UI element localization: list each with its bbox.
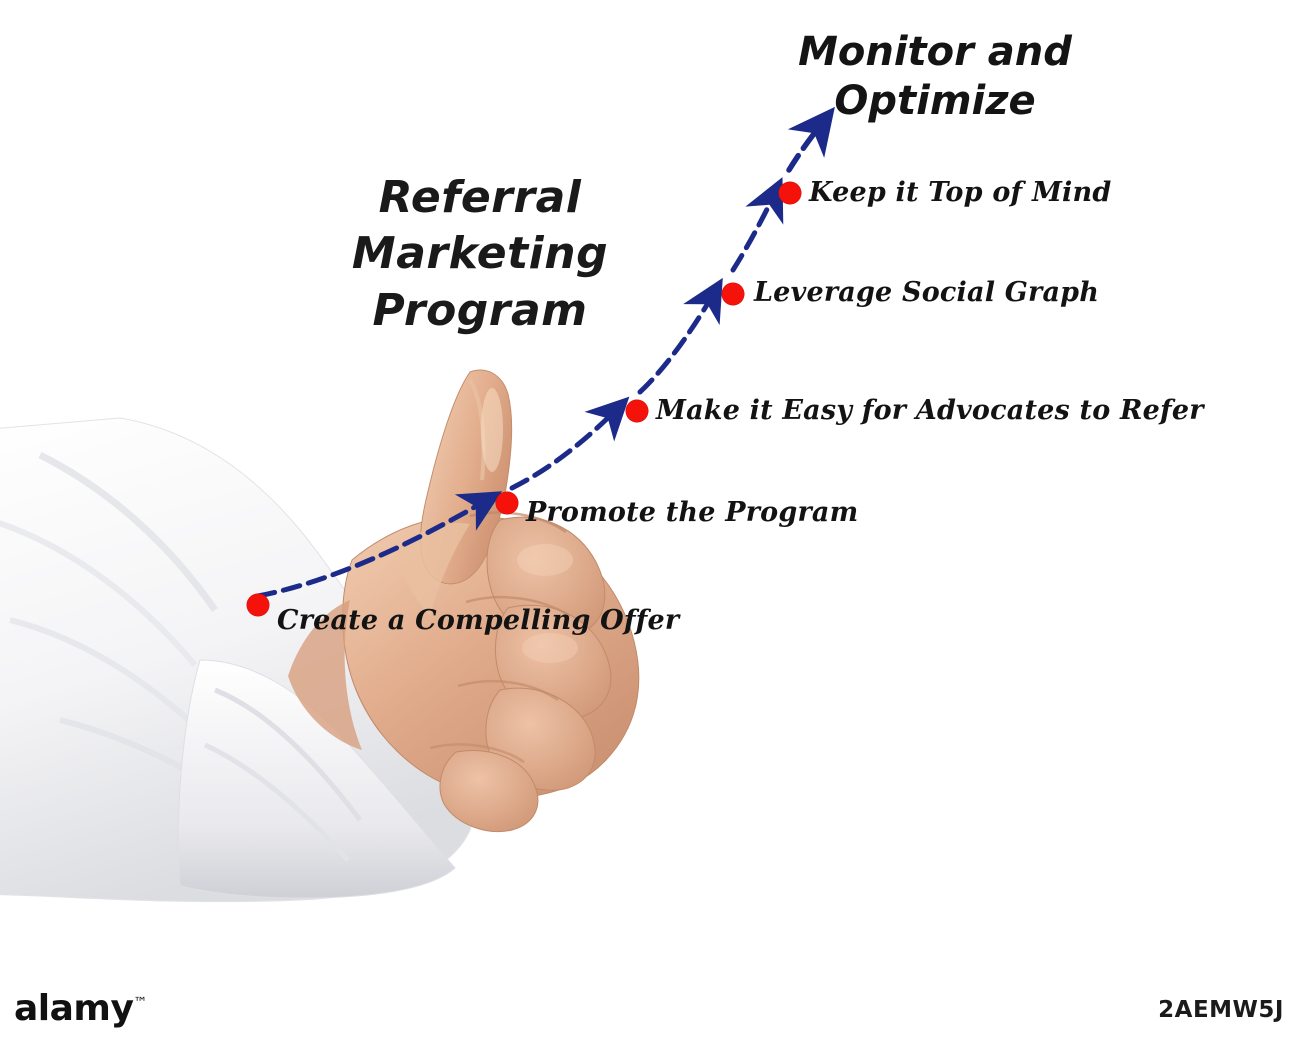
image-id-text: 2AEMW5J bbox=[1158, 997, 1284, 1023]
page-title: Referral Marketing Program bbox=[300, 170, 660, 339]
step-label-promote-the-program: Promote the Program bbox=[526, 497, 858, 528]
step-label-leverage-social-graph: Leverage Social Graph bbox=[754, 277, 1099, 308]
step-dot-3[interactable] bbox=[626, 400, 648, 422]
step-dot-2[interactable] bbox=[496, 492, 518, 514]
step-label-keep-it-top-of-mind: Keep it Top of Mind bbox=[809, 177, 1111, 208]
step-dot-1[interactable] bbox=[247, 594, 269, 616]
step-dot-5[interactable] bbox=[779, 182, 801, 204]
step-label-create-a-compelling-offer: Create a Compelling Offer bbox=[277, 605, 679, 636]
diagram-canvas: Referral Marketing Program Monitor and O… bbox=[0, 0, 1300, 1043]
alamy-logo-text: alamy bbox=[14, 988, 133, 1029]
end-stage-label: Monitor and Optimize bbox=[770, 28, 1100, 126]
alamy-logo: alamy™ bbox=[14, 988, 147, 1029]
trademark-symbol: ™ bbox=[133, 995, 147, 1011]
footer-bar: alamy™ 2AEMW5J bbox=[0, 970, 1300, 1043]
step-label-make-it-easy-for-advocates-to-refer: Make it Easy for Advocates to Refer bbox=[656, 395, 1204, 426]
step-dot-4[interactable] bbox=[722, 283, 744, 305]
